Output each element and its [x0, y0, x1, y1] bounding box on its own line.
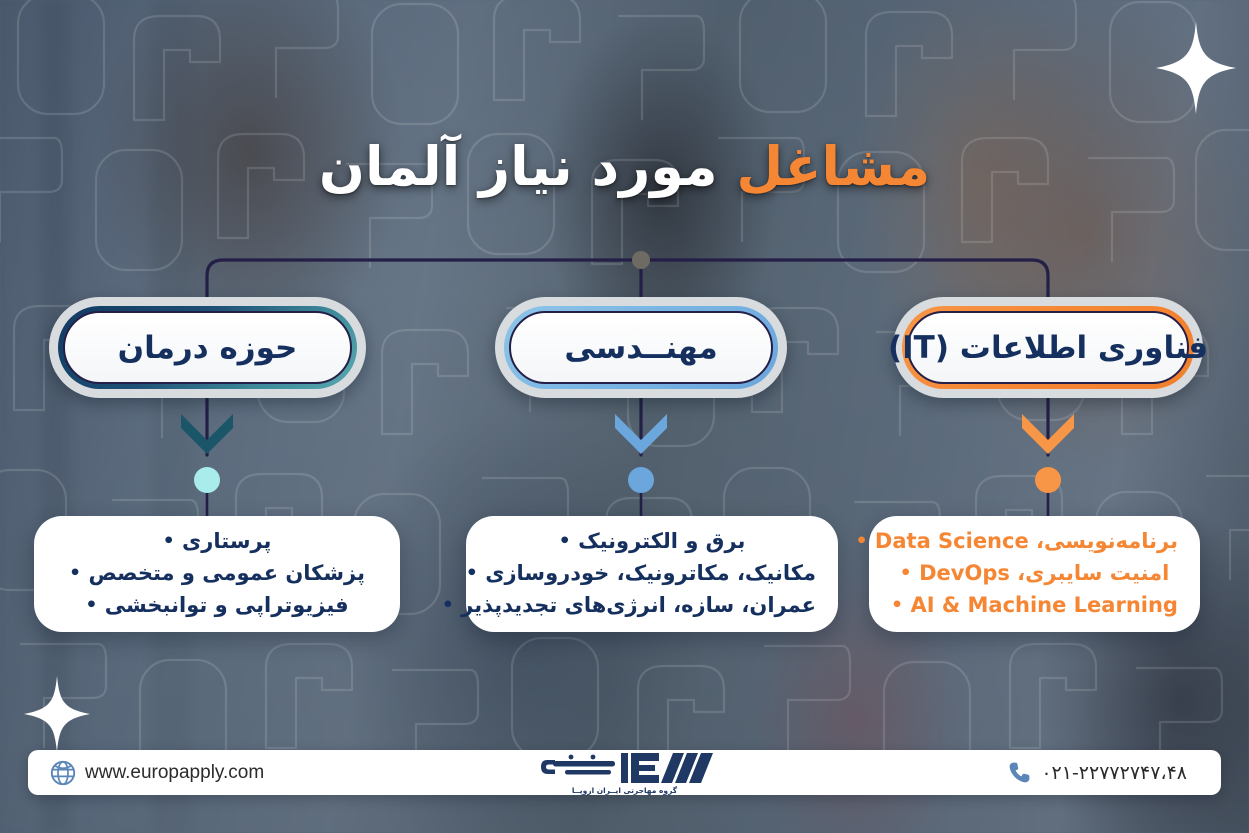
poster-title-highlight: مشاغل: [736, 135, 930, 198]
category-pill-healthcare[interactable]: حوزه درمان: [49, 297, 366, 398]
poster-title-wrapper: مشاغل مورد نیاز آلمان: [0, 133, 1249, 201]
infographic-poster: مشاغل مورد نیاز آلمان حوزه درمان مهنــدس…: [0, 0, 1249, 833]
sparkle-icon: [1156, 22, 1236, 114]
footer-phone[interactable]: ۰۲۱-۲۲۷۷۲۷۴۷،۴۸: [827, 761, 1221, 784]
bullet-icon: •: [69, 562, 81, 584]
website-url: www.europapply.com: [85, 762, 264, 784]
node-dot-it: [1035, 467, 1061, 493]
list-item-label: عمران، سازه، انرژی‌های تجدیدپذیر: [461, 593, 816, 617]
list-item: AI & Machine Learning •: [891, 590, 1178, 622]
bullet-icon: •: [466, 562, 478, 584]
arrow-down-icon-healthcare: [181, 412, 233, 456]
logo-mark: [535, 751, 713, 785]
list-item-label: برق و الکترونیک: [578, 529, 745, 553]
category-pill-inner: مهنــدسی: [509, 311, 773, 384]
node-dot-healthcare: [194, 467, 220, 493]
list-item: پزشکان عمومی و متخصص •: [56, 558, 378, 590]
content-card-engineering: برق و الکترونیک • مکانیک، مکاترونیک، خود…: [466, 516, 838, 632]
list-item-label: مکانیک، مکاترونیک، خودروسازی: [485, 561, 816, 585]
list-item: امنیت سایبری، DevOps •: [891, 558, 1178, 590]
list-item: پرستاری •: [56, 526, 378, 558]
list-item-label: پرستاری: [182, 529, 271, 553]
category-pill-inner: حوزه درمان: [63, 311, 352, 384]
category-pill-ring: حوزه درمان: [58, 306, 357, 389]
poster-title: مشاغل مورد نیاز آلمان: [319, 133, 930, 201]
bullet-icon: •: [85, 594, 97, 616]
footer-website[interactable]: www.europapply.com: [28, 760, 422, 786]
list-item: عمران، سازه، انرژی‌های تجدیدپذیر •: [488, 590, 816, 622]
list-item-label: برنامه‌نویسی، Data Science: [875, 529, 1178, 553]
bullet-icon: •: [891, 594, 903, 616]
poster-title-rest: مورد نیاز آلمان: [319, 135, 737, 198]
content-card-healthcare: پرستاری • پزشکان عمومی و متخصص • فیزیوتر…: [34, 516, 400, 632]
bullet-icon: •: [559, 530, 571, 552]
bullet-icon: •: [163, 530, 175, 552]
list-item: برنامه‌نویسی، Data Science •: [891, 526, 1178, 558]
globe-icon: [50, 760, 76, 786]
arrow-down-icon-engineering: [615, 412, 667, 456]
list-item-label: پزشکان عمومی و متخصص: [88, 561, 365, 585]
sparkle-icon: [24, 676, 90, 752]
list-item-label: فیزیوتراپی و توانبخشی: [105, 593, 349, 617]
logo-tagline: گروه مهاجرتی ایــران اروپــا: [572, 786, 677, 795]
footer-bar: www.europapply.com: [28, 750, 1221, 795]
category-pill-ring: مهنــدسی: [504, 306, 778, 389]
category-label-engineering: مهنــدسی: [564, 330, 717, 366]
content-card-it: برنامه‌نویسی، Data Science • امنیت سایبر…: [869, 516, 1200, 632]
list-item-label: AI & Machine Learning: [911, 593, 1178, 617]
category-pill-it[interactable]: فناوری اطلاعات (IT): [893, 297, 1203, 398]
list-item: مکانیک، مکاترونیک، خودروسازی •: [488, 558, 816, 590]
bullet-icon: •: [900, 562, 912, 584]
list-item: برق و الکترونیک •: [488, 526, 816, 558]
bullet-icon: •: [442, 594, 454, 616]
category-pill-engineering[interactable]: مهنــدسی: [495, 297, 787, 398]
logo-block: گروه مهاجرتی ایــران اروپــا: [535, 751, 713, 795]
category-pill-ring: فناوری اطلاعات (IT): [902, 306, 1194, 389]
phone-number: ۰۲۱-۲۲۷۷۲۷۴۷،۴۸: [1041, 762, 1187, 784]
category-pill-inner: فناوری اطلاعات (IT): [907, 311, 1189, 384]
list-item: فیزیوتراپی و توانبخشی •: [56, 590, 378, 622]
brand-logo: گروه مهاجرتی ایــران اروپــا: [422, 751, 828, 795]
category-label-healthcare: حوزه درمان: [118, 330, 298, 366]
category-label-it: فناوری اطلاعات (IT): [888, 330, 1208, 366]
list-item-label: امنیت سایبری، DevOps: [919, 561, 1169, 585]
arrow-down-icon-it: [1022, 412, 1074, 456]
bullet-icon: •: [855, 530, 867, 552]
node-dot-engineering: [628, 467, 654, 493]
phone-icon: [1008, 761, 1031, 784]
